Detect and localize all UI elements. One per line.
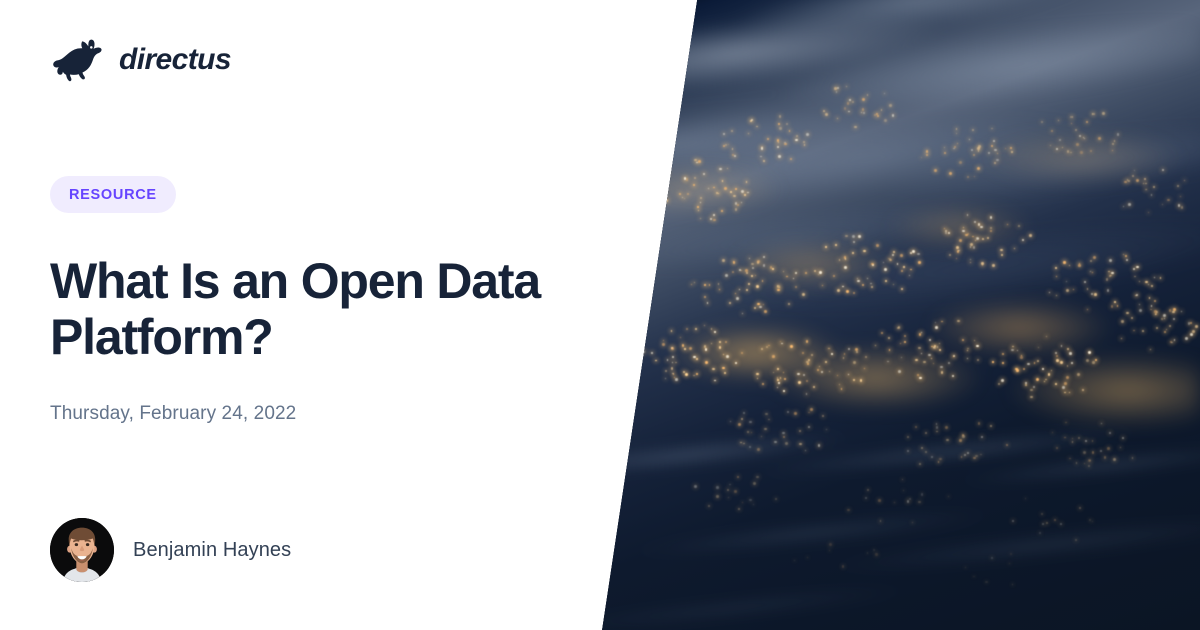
- brand-lockup[interactable]: directus: [50, 38, 231, 82]
- rabbit-logo-icon: [50, 38, 106, 82]
- hero-image: [600, 0, 1200, 630]
- publish-date: Thursday, February 24, 2022: [50, 403, 296, 425]
- content-column: directus RESOURCE What Is an Open Data P…: [50, 0, 590, 630]
- category-badge[interactable]: RESOURCE: [50, 176, 176, 213]
- author-name: Benjamin Haynes: [133, 539, 291, 562]
- page-title: What Is an Open Data Platform?: [50, 253, 570, 365]
- avatar: [50, 518, 114, 582]
- social-share-card: directus RESOURCE What Is an Open Data P…: [0, 0, 1200, 630]
- author-block[interactable]: Benjamin Haynes: [50, 518, 291, 582]
- author-avatar-icon: [50, 518, 114, 582]
- earth-night-photo: [600, 0, 1200, 630]
- brand-wordmark: directus: [119, 45, 231, 75]
